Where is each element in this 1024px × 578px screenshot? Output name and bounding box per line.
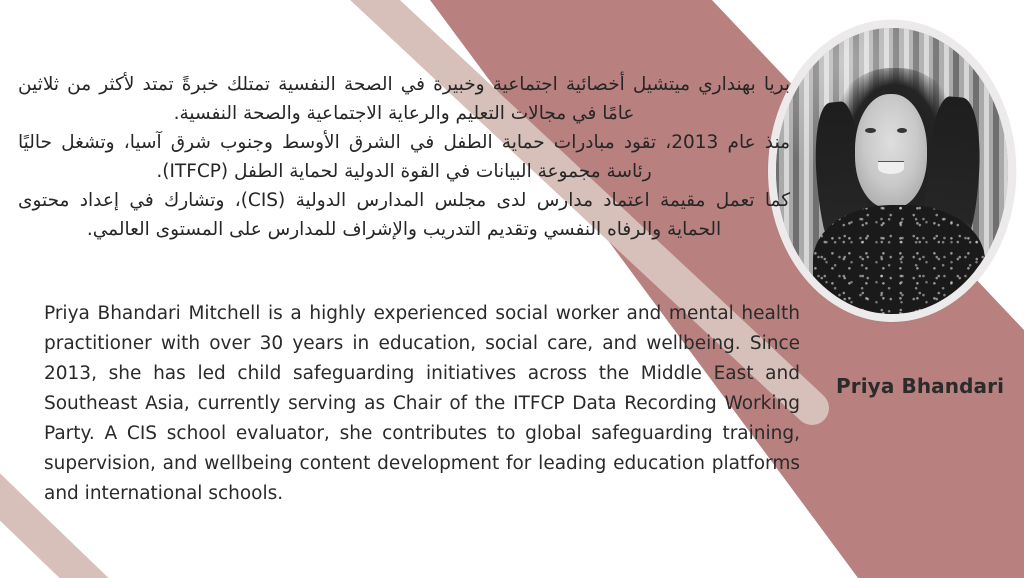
portrait-image-clip <box>776 28 1008 314</box>
arabic-bio-paragraph-2: منذ عام 2013، تقود مبادرات حماية الطفل ف… <box>18 128 790 186</box>
portrait-smile <box>878 162 904 173</box>
english-bio-paragraph: Priya Bhandari Mitchell is a highly expe… <box>44 299 800 509</box>
portrait-face <box>855 94 927 208</box>
speaker-name-label: Priya Bhandari <box>836 374 1004 398</box>
portrait-sequin-top <box>813 205 985 314</box>
portrait-photo <box>776 28 1008 314</box>
speaker-bio-slide: بريا بهنداري ميتشيل أخصائية اجتماعية وخب… <box>0 0 1024 578</box>
arabic-bio-paragraph-3: كما تعمل مقيمة اعتماد مدارس لدى مجلس الم… <box>18 186 790 244</box>
arabic-bio-block: بريا بهنداري ميتشيل أخصائية اجتماعية وخب… <box>18 70 790 244</box>
speaker-portrait <box>768 20 1016 322</box>
arabic-bio-paragraph-1: بريا بهنداري ميتشيل أخصائية اجتماعية وخب… <box>18 70 790 128</box>
english-bio-block: Priya Bhandari Mitchell is a highly expe… <box>44 299 800 509</box>
